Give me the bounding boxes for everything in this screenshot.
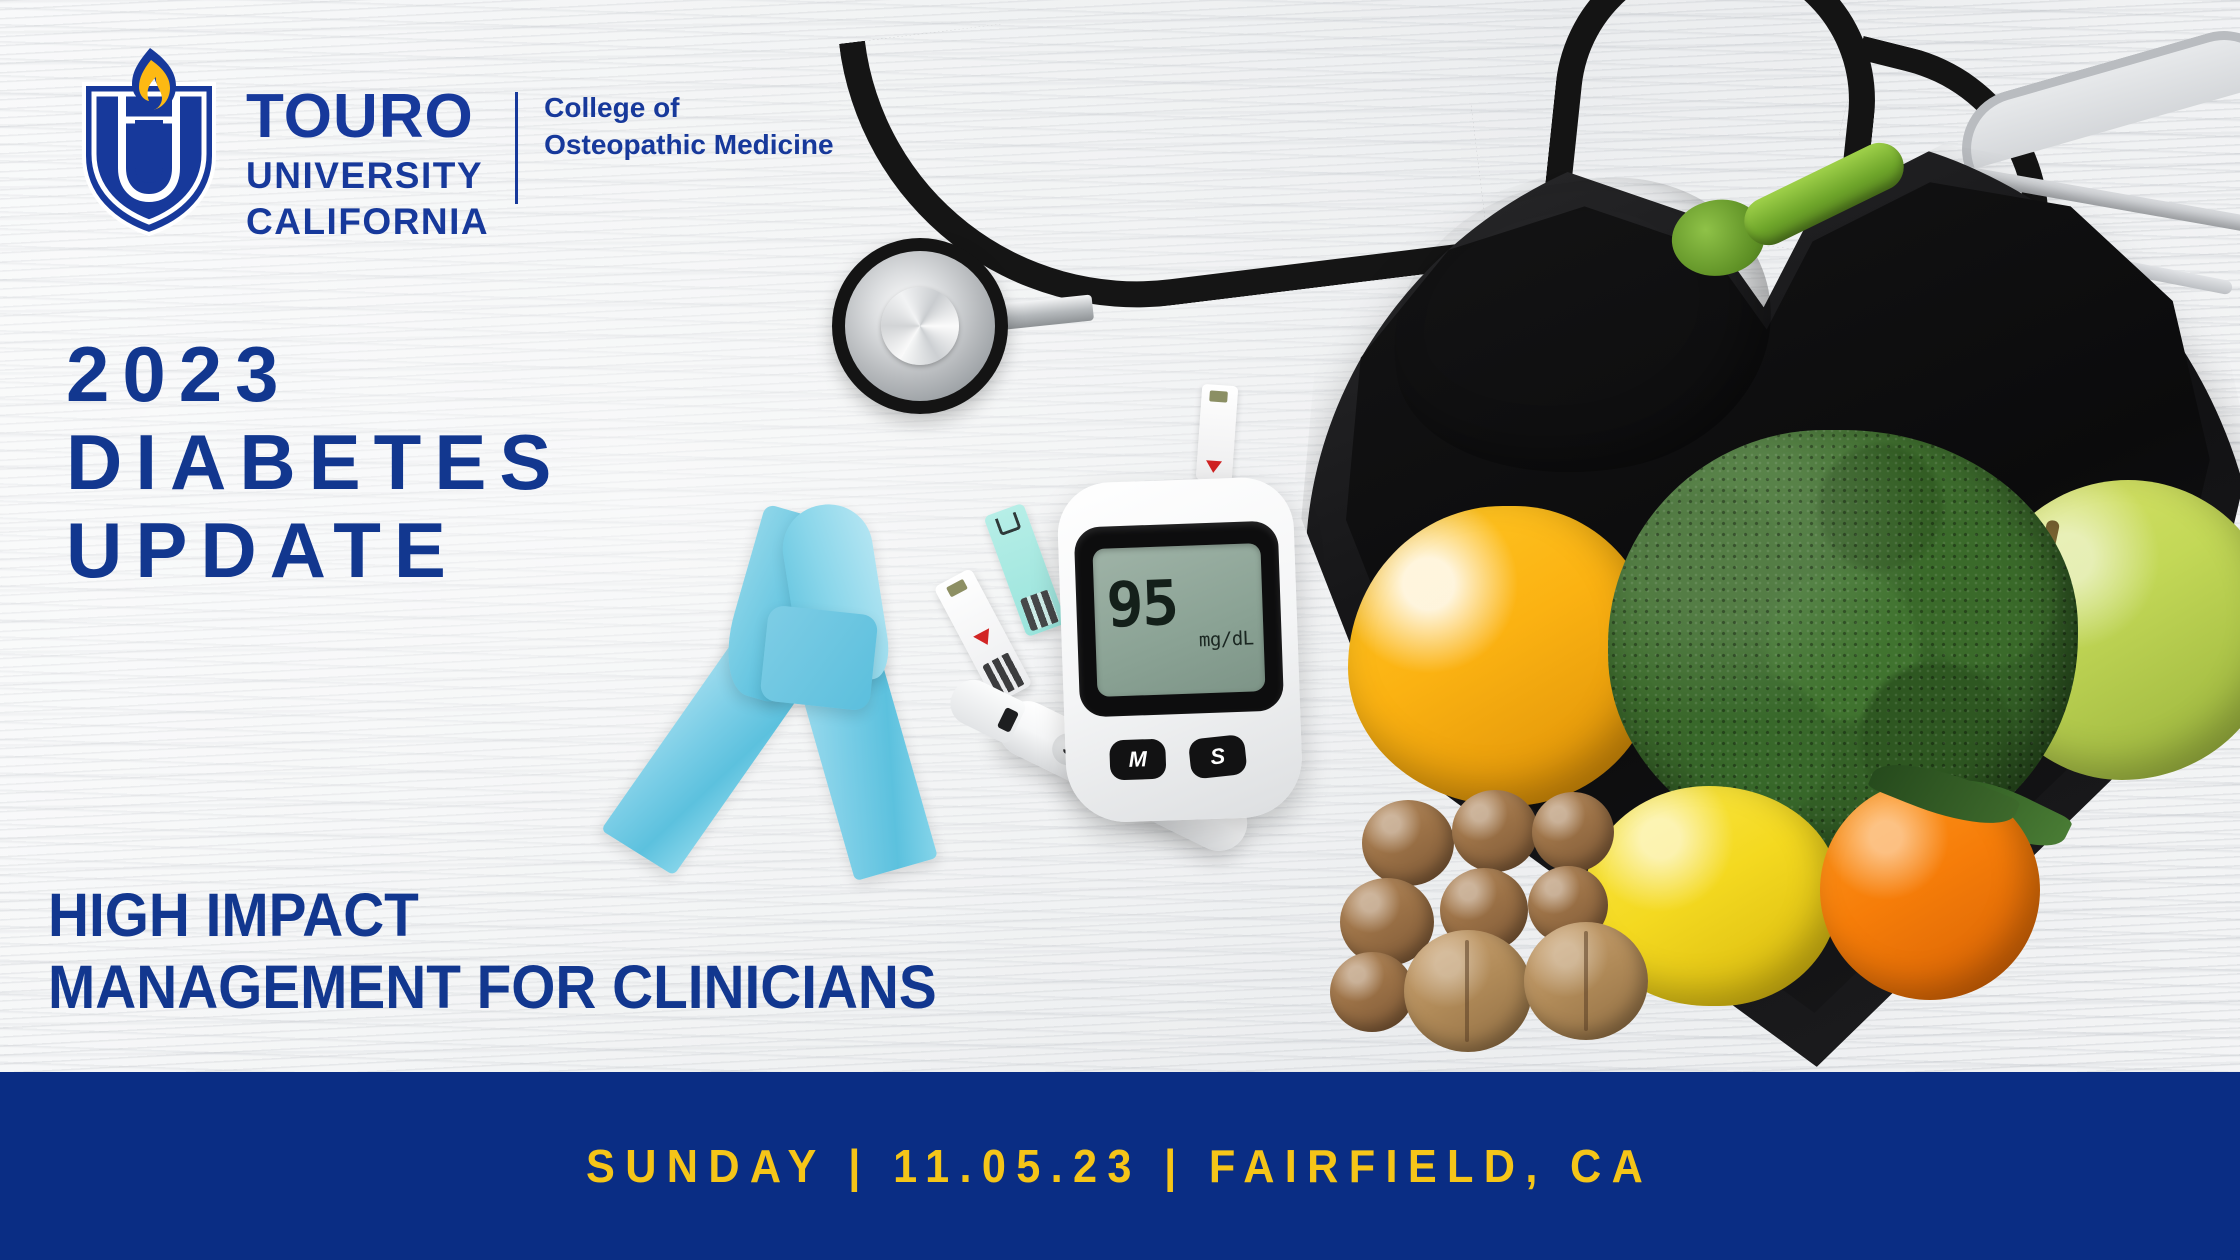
hazelnut: [1362, 800, 1454, 886]
stethoscope-chestpiece-icon: [832, 238, 1008, 414]
glucose-reading-unit: mg/dL: [1199, 627, 1254, 651]
glucose-meter: 95 mg/dL M S: [1056, 476, 1304, 824]
glucose-meter-screen-bezel: 95 mg/dL: [1074, 521, 1285, 718]
college-line-2: Osteopathic Medicine: [544, 127, 833, 164]
diabetes-update-event-poster: 3 95 mg/dL M S: [0, 0, 2240, 1260]
hazelnut: [1452, 790, 1538, 872]
test-strip-arrow-icon: [973, 628, 995, 649]
hazelnut: [1532, 792, 1614, 872]
logo-california-text: CALIFORNIA: [246, 203, 489, 240]
test-strip-contacts: [1020, 589, 1060, 631]
event-subtitle: HIGH IMPACT MANAGEMENT FOR CLINICIANS: [48, 880, 937, 1024]
college-name-block: College of Osteopathic Medicine: [544, 90, 833, 164]
event-date-location-text: SUNDAY | 11.05.23 | FAIRFIELD, CA: [586, 1139, 1653, 1193]
glucose-meter-lcd: 95 mg/dL: [1092, 543, 1265, 697]
event-title-diabetes: DIABETES: [66, 418, 564, 506]
logo-university-text: UNIVERSITY: [246, 157, 489, 194]
touro-university-logo[interactable]: TOURO UNIVERSITY CALIFORNIA College of O…: [78, 44, 834, 240]
hazelnut: [1330, 952, 1414, 1032]
test-strip-inserted: [1196, 384, 1239, 482]
logo-wordmark: TOURO UNIVERSITY CALIFORNIA College of O…: [246, 44, 834, 240]
event-title: 2023 DIABETES UPDATE: [66, 330, 564, 594]
logo-touro-text: TOURO: [246, 86, 489, 148]
glucose-meter-set-button[interactable]: S: [1188, 734, 1248, 780]
event-subtitle-line-2: MANAGEMENT FOR CLINICIANS: [48, 952, 937, 1024]
test-strip-arrow-icon: [1205, 460, 1222, 473]
college-line-1: College of: [544, 90, 833, 127]
event-subtitle-line-1: HIGH IMPACT: [48, 880, 937, 952]
university-name-block: TOURO UNIVERSITY CALIFORNIA: [246, 86, 489, 240]
touro-shield-flame-icon: [78, 44, 220, 236]
walnut: [1524, 922, 1648, 1040]
walnut: [1404, 930, 1532, 1052]
ribbon-crossover: [759, 605, 878, 712]
glucose-meter-memory-button[interactable]: M: [1109, 739, 1166, 781]
event-title-update: UPDATE: [66, 506, 564, 594]
glucose-reading-value: 95: [1105, 572, 1178, 636]
event-title-year: 2023: [66, 330, 564, 418]
test-strip-prong: [995, 512, 1022, 536]
event-details-banner: SUNDAY | 11.05.23 | FAIRFIELD, CA: [0, 1072, 2240, 1260]
blue-awareness-ribbon: [672, 518, 962, 868]
logo-divider-rule: [515, 92, 518, 204]
